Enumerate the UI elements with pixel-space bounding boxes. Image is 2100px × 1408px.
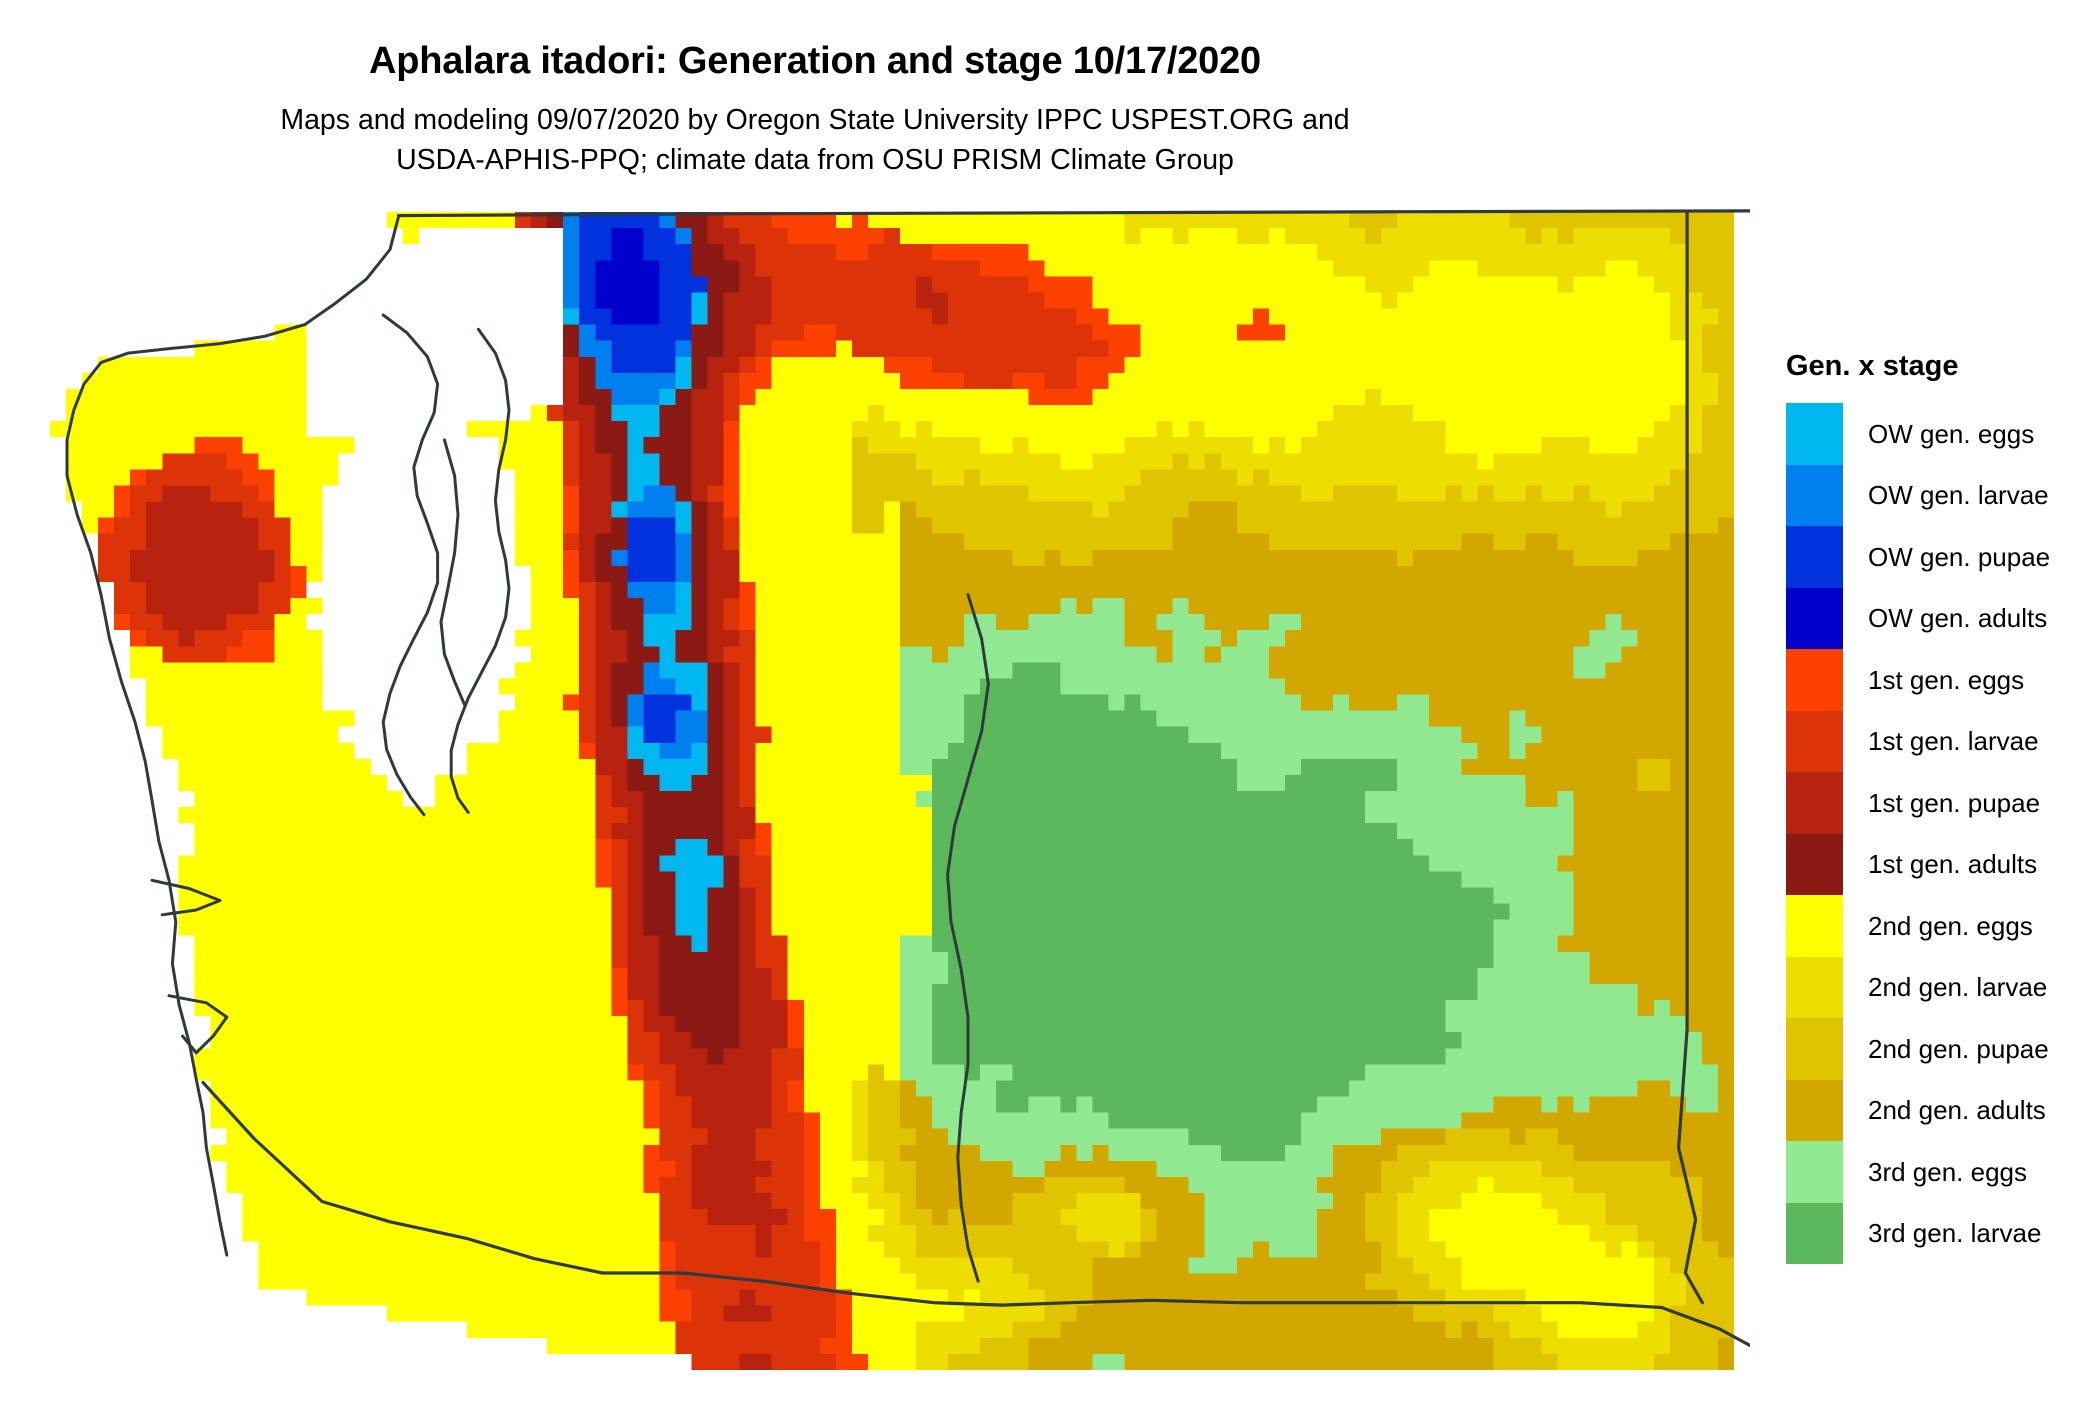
map-page: Aphalara itadori: Generation and stage 1… [0, 0, 2100, 1408]
legend-row[interactable]: OW gen. larvae [1786, 465, 2086, 527]
legend-row[interactable]: 1st gen. eggs [1786, 649, 2086, 711]
legend-swatch [1786, 834, 1843, 896]
legend-swatch [1786, 1080, 1843, 1142]
legend-row[interactable]: OW gen. adults [1786, 588, 2086, 650]
generation-stage-raster[interactable] [50, 196, 1750, 1386]
map-frame[interactable] [50, 196, 1750, 1386]
legend-label: OW gen. larvae [1868, 482, 2049, 508]
legend-swatch [1786, 957, 1843, 1019]
legend-label: 2nd gen. pupae [1868, 1036, 2049, 1062]
legend-swatch [1786, 711, 1843, 773]
legend-swatch [1786, 649, 1843, 711]
title-block: Aphalara itadori: Generation and stage 1… [0, 0, 1630, 181]
legend-label: 1st gen. eggs [1868, 667, 2024, 693]
legend-row[interactable]: OW gen. eggs [1786, 403, 2086, 465]
legend-swatch [1786, 1018, 1843, 1080]
legend-label: OW gen. eggs [1868, 421, 2034, 447]
legend-label: 1st gen. adults [1868, 851, 2037, 877]
legend-swatch [1786, 403, 1843, 465]
legend-label: 2nd gen. eggs [1868, 913, 2033, 939]
subtitle-line-2: USDA-APHIS-PPQ; climate data from OSU PR… [0, 140, 1630, 180]
legend-row[interactable]: 3rd gen. eggs [1786, 1141, 2086, 1203]
legend-row[interactable]: 1st gen. adults [1786, 834, 2086, 896]
legend-swatch [1786, 895, 1843, 957]
legend-label: 2nd gen. adults [1868, 1097, 2046, 1123]
legend-row[interactable]: 1st gen. pupae [1786, 772, 2086, 834]
legend-swatch [1786, 1141, 1843, 1203]
legend-label: 2nd gen. larvae [1868, 974, 2047, 1000]
legend-title: Gen. x stage [1786, 352, 2086, 381]
legend-row[interactable]: 1st gen. larvae [1786, 711, 2086, 773]
legend-row[interactable]: 3rd gen. larvae [1786, 1203, 2086, 1265]
legend-label: 3rd gen. larvae [1868, 1220, 2041, 1246]
page-title: Aphalara itadori: Generation and stage 1… [0, 0, 1630, 80]
legend-row[interactable]: 2nd gen. pupae [1786, 1018, 2086, 1080]
legend-items: OW gen. eggsOW gen. larvaeOW gen. pupaeO… [1786, 403, 2086, 1264]
legend-label: 1st gen. larvae [1868, 728, 2039, 754]
legend-panel: Gen. x stage OW gen. eggsOW gen. larvaeO… [1786, 352, 2086, 1264]
legend-swatch [1786, 526, 1843, 588]
legend-label: OW gen. adults [1868, 605, 2047, 631]
legend-swatch [1786, 772, 1843, 834]
legend-swatch [1786, 588, 1843, 650]
legend-swatch [1786, 465, 1843, 527]
subtitle-line-1: Maps and modeling 09/07/2020 by Oregon S… [0, 100, 1630, 140]
legend-row[interactable]: OW gen. pupae [1786, 526, 2086, 588]
legend-label: OW gen. pupae [1868, 544, 2050, 570]
legend-label: 1st gen. pupae [1868, 790, 2040, 816]
legend-label: 3rd gen. eggs [1868, 1159, 2027, 1185]
subtitle: Maps and modeling 09/07/2020 by Oregon S… [0, 80, 1630, 181]
legend-row[interactable]: 2nd gen. eggs [1786, 895, 2086, 957]
legend-swatch [1786, 1203, 1843, 1265]
legend-row[interactable]: 2nd gen. adults [1786, 1080, 2086, 1142]
legend-row[interactable]: 2nd gen. larvae [1786, 957, 2086, 1019]
